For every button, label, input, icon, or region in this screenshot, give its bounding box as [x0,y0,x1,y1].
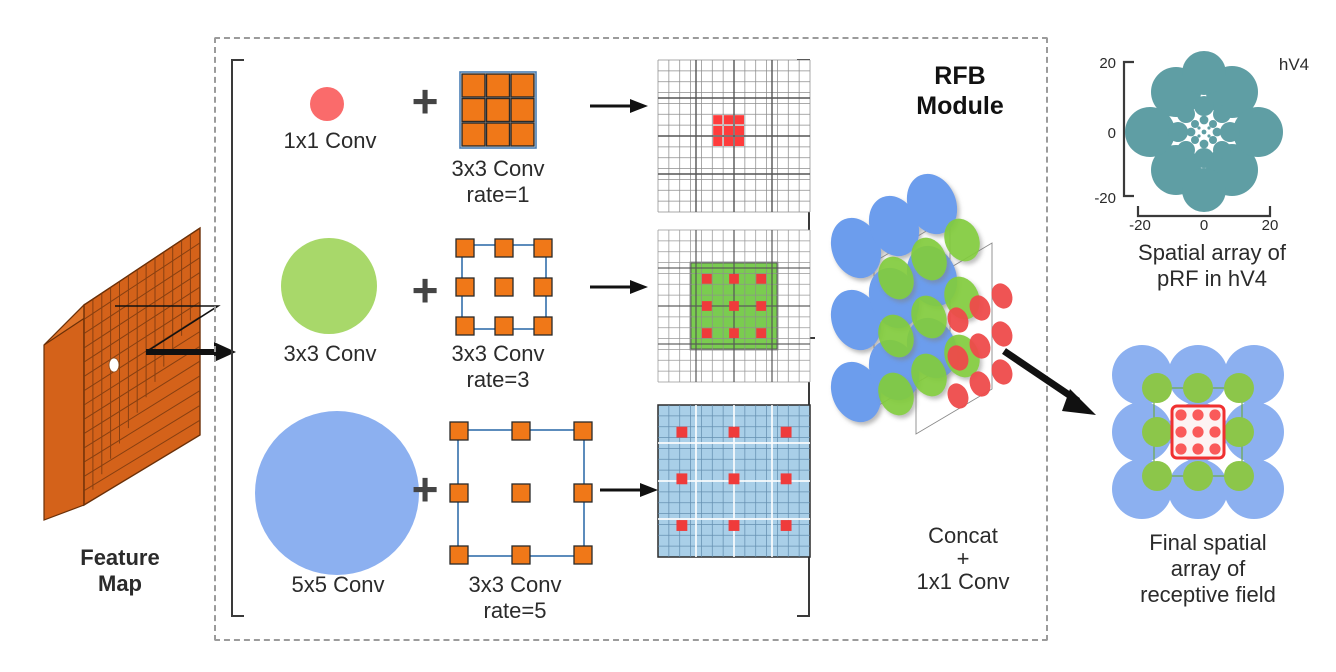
branch-3-dilated-label: 3x3 Conv rate=5 [440,572,590,624]
final-red-dots [1175,409,1220,454]
branch-3-plus-sign: + [400,462,450,516]
branches-left-bracket [228,58,248,618]
branch-2-row: 3x3 Conv + 3x3 Conv rate=3 [260,235,790,410]
branch-2-result-grid [658,230,810,382]
branch-2-conv-circle [278,235,380,337]
branch-3-result-grid [658,405,810,557]
branch-2-plus-sign: + [400,263,450,317]
branch-3-kernel-rate-5 [450,422,592,564]
branch-1-kernel-rate-1 [458,70,538,150]
hv4-xtick-left: -20 [1129,217,1151,234]
branch-3-conv-label: 5x5 Conv [263,572,413,598]
branch-1-result-grid [658,60,810,212]
hv4-caption: Spatial array of pRF in hV4 [1092,240,1332,292]
branch-3-row: 5x5 Conv + 3x3 Conv rate=5 [260,400,790,615]
rfb-to-final-arrow [1000,345,1108,425]
feature-map-label: Feature Map [30,545,210,597]
branch-3-arrow [600,478,660,502]
hv4-xtick-mid: 0 [1200,217,1208,234]
branch-2-dilated-label: 3x3 Conv rate=3 [428,341,568,393]
hv4-plot: 20 0 -20 -20 0 20 hV4 [1088,48,1328,228]
hv4-xtick-right: 20 [1262,217,1279,234]
hv4-ytick-bottom: -20 [1094,190,1116,207]
branch-2-conv-label: 3x3 Conv [260,341,400,367]
hv4-ytick-top: 20 [1099,55,1116,72]
branch-1-conv-label: 1x1 Conv [260,128,400,154]
branch-1-arrow [590,94,650,118]
concat-label: Concat + 1x1 Conv [878,524,1048,593]
branch-1-red-patch [713,115,744,146]
branch-1-plus-sign: + [400,74,450,128]
final-spatial-array-graphic [1098,340,1298,525]
branch-1-row: 1x1 Conv + 3x3 Conv rate=1 [260,60,790,220]
diagram-canvas: Feature Map 1x1 Conv + 3x3 Conv rate=1 [0,0,1336,672]
final-array-caption: Final spatial array of receptive field [1080,530,1336,608]
hv4-prf-circles [1125,51,1283,212]
branch-1-conv-circle [305,82,349,126]
branch-2-arrow [590,275,650,299]
hv4-ytick-mid: 0 [1108,125,1116,142]
rfb-module-title: RFB Module [875,62,1045,121]
branch-2-kernel-rate-3 [456,239,552,335]
branch-3-conv-circle [252,408,422,578]
branch-2-red-dots [702,274,766,338]
branch-1-dilated-label: 3x3 Conv rate=1 [428,156,568,208]
hv4-corner-label: hV4 [1279,55,1309,74]
slab-left-face [44,305,84,520]
